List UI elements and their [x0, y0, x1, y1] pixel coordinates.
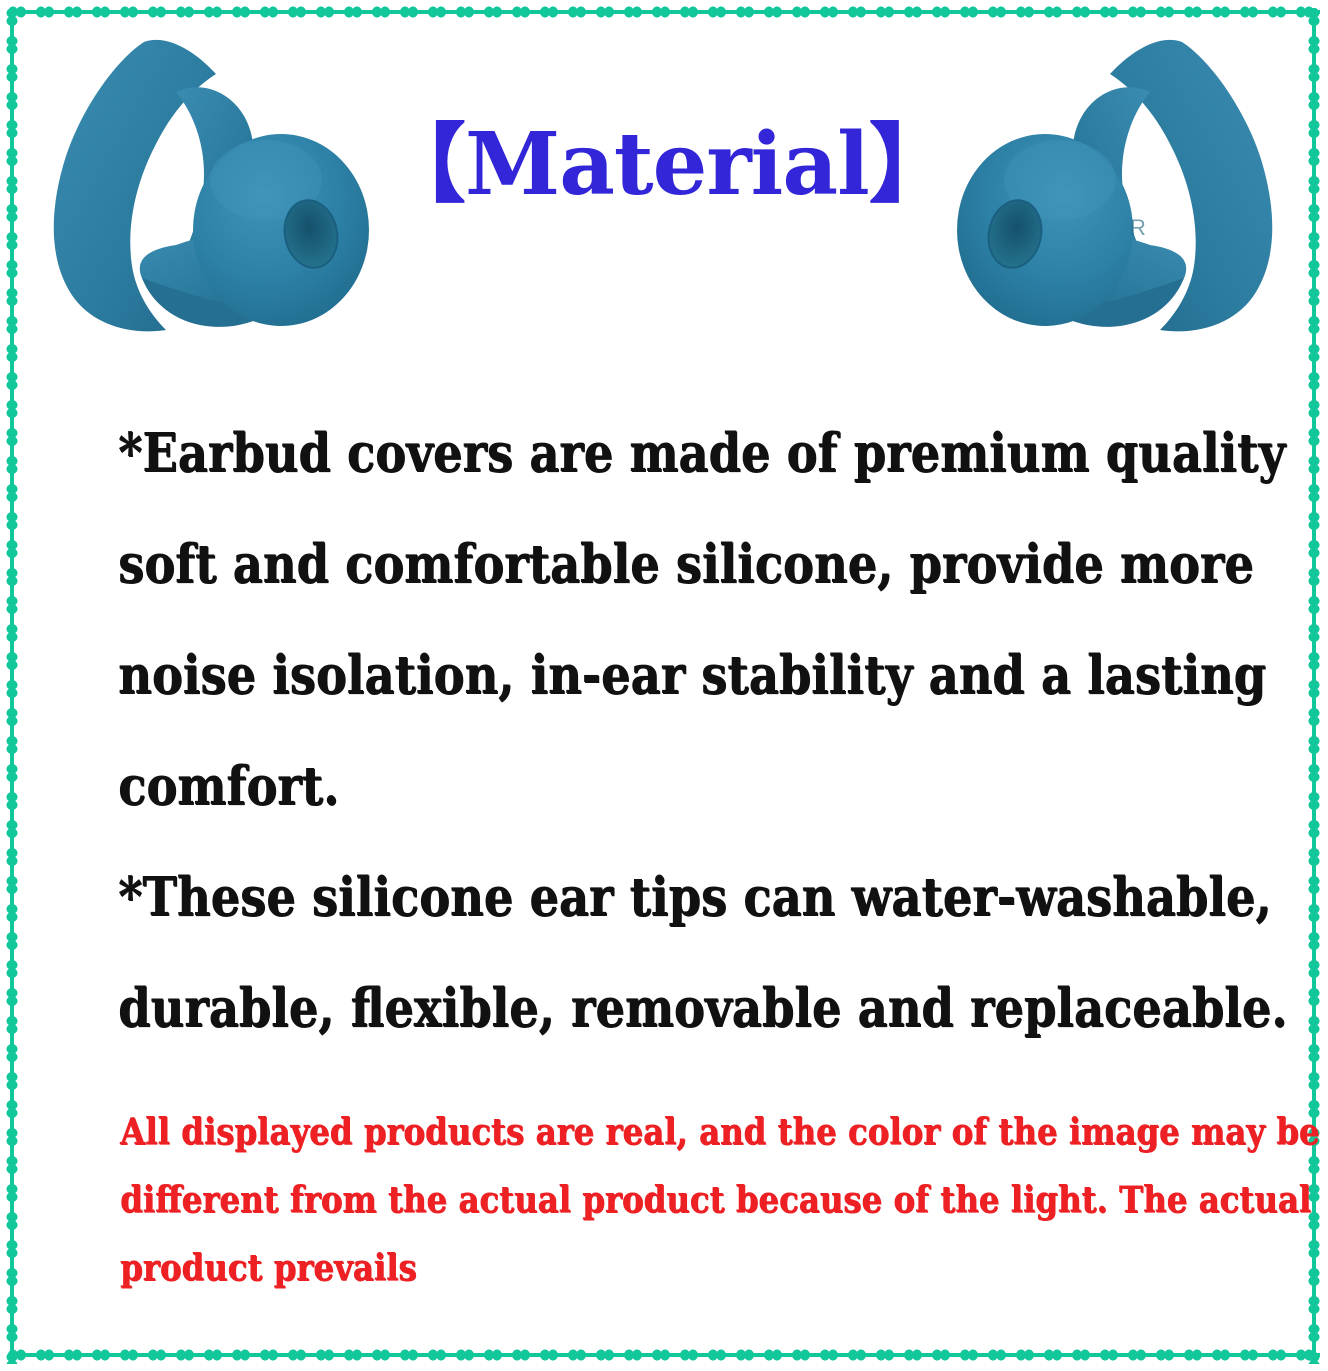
disclaimer-line: All displayed products are real, and the… — [120, 1098, 1110, 1166]
disclaimer-line: product prevails — [120, 1234, 1110, 1302]
page-title: 【Material】 — [380, 122, 950, 208]
border-top-dashes — [8, 6, 1320, 18]
body-line: *These silicone ear tips can water-washa… — [118, 842, 1085, 953]
hero-section: 【Material】 — [0, 30, 1328, 370]
body-line: comfort. — [118, 731, 1085, 842]
body-line: *Earbud covers are made of premium quali… — [118, 398, 1085, 509]
color-disclaimer: All displayed products are real, and the… — [120, 1098, 1220, 1302]
body-line: noise isolation, in-ear stability and a … — [118, 620, 1085, 731]
product-info-card: 【Material】 — [0, 0, 1328, 1371]
body-line: soft and comfortable silicone, provide m… — [118, 509, 1085, 620]
disclaimer-line: different from the actual product becaus… — [120, 1166, 1110, 1234]
border-bottom-dashes — [8, 1349, 1320, 1361]
body-line: durable, flexible, removable and replace… — [118, 953, 1085, 1064]
earbud-image-left — [26, 30, 396, 350]
earbud-side-marking-right: R — [1130, 215, 1146, 240]
earbud-image-right: R — [930, 30, 1300, 350]
material-description: *Earbud covers are made of premium quali… — [118, 398, 1223, 1064]
